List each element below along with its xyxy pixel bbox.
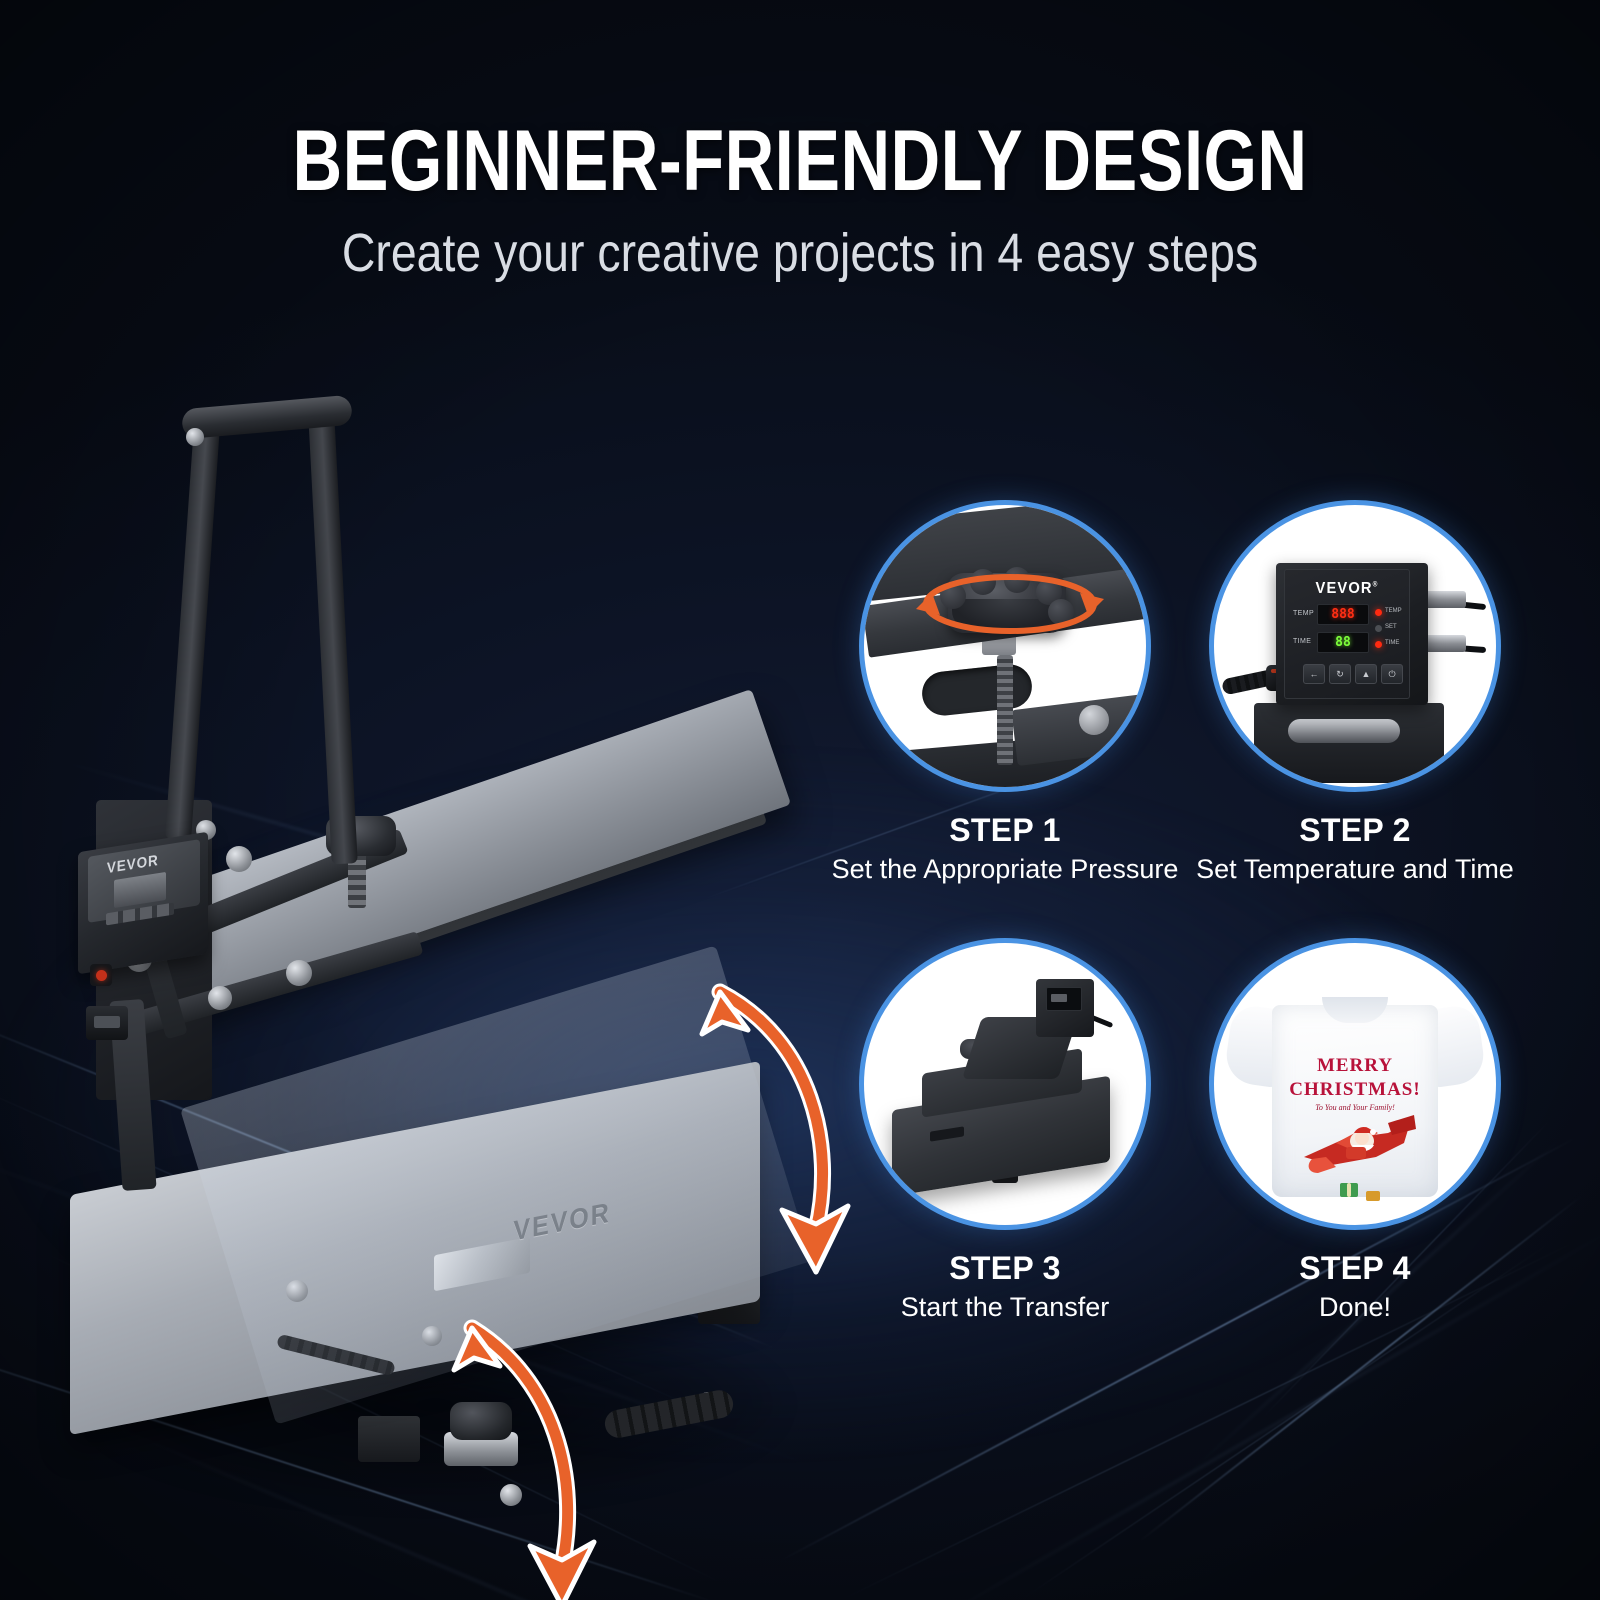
step-card-4[interactable]: MERRY CHRISTMAS! To You and Your Family! (1180, 938, 1530, 1324)
base-foot-front (358, 1416, 420, 1462)
panel-led-time-label: TIME (1385, 640, 1399, 646)
knob-photo-side-nut (1079, 705, 1109, 735)
panel-button-row[interactable]: ← ↻ ▲ ⏻ (1303, 664, 1403, 684)
steps-row-top: STEP 1 Set the Appropriate Pressure (830, 500, 1530, 886)
press-photo-display (1046, 987, 1082, 1011)
power-socket (86, 1006, 128, 1040)
step-3-caption: STEP 3 Start the Transfer (901, 1250, 1110, 1324)
tshirt-print-line-3: To You and Your Family! (1230, 1103, 1480, 1112)
gift-box-ribbon (1347, 1183, 1351, 1197)
printed-tshirt: MERRY CHRISTMAS! To You and Your Family! (1230, 971, 1480, 1197)
panel-temp-display: 888 (1317, 604, 1369, 625)
step-1-description: Set the Appropriate Pressure (832, 854, 1179, 886)
step-4-description: Done! (1299, 1292, 1411, 1324)
panel-brand-text: VEVOR (1316, 580, 1373, 597)
step-2-image-bubble: VEVOR® TEMP TIME 888 88 TEMP SET (1209, 500, 1501, 792)
tshirt-print-line-2: CHRISTMAS! (1230, 1079, 1480, 1101)
handle-pivot-bolt (186, 428, 204, 446)
step-card-3[interactable]: STEP 3 Start the Transfer (830, 938, 1180, 1324)
panel-temp-label: TEMP (1293, 610, 1314, 617)
panel-button-back[interactable]: ← (1303, 664, 1325, 684)
step-3-heading: STEP 3 (901, 1250, 1110, 1287)
knob-photo-threaded-rod (997, 655, 1013, 765)
panel-button-power[interactable]: ⏻ (1381, 664, 1403, 684)
step-card-1[interactable]: STEP 1 Set the Appropriate Pressure (830, 500, 1180, 886)
step-2-heading: STEP 2 (1196, 812, 1514, 849)
step-2-caption: STEP 2 Set Temperature and Time (1196, 812, 1514, 886)
step-4-heading: STEP 4 (1299, 1250, 1411, 1287)
close-motion-arrow-left (444, 1310, 634, 1600)
control-panel-face: VEVOR® TEMP TIME 888 88 TEMP SET (1284, 569, 1410, 699)
step-2-description: Set Temperature and Time (1196, 854, 1514, 886)
step-3-image-bubble (859, 938, 1151, 1230)
header: BEGINNER-FRIENDLY DESIGN Create your cre… (0, 118, 1600, 280)
gift-box-gold (1366, 1191, 1380, 1201)
step-1-caption: STEP 1 Set the Appropriate Pressure (832, 812, 1179, 886)
tshirt-print-line-1: MERRY (1230, 1055, 1480, 1077)
frame-bolt-4 (208, 986, 232, 1010)
step-4-image-bubble: MERRY CHRISTMAS! To You and Your Family! (1209, 938, 1501, 1230)
panel-time-value: 88 (1335, 636, 1351, 649)
panel-photo-base-frame (1254, 703, 1444, 783)
handle-arm-left[interactable] (165, 410, 221, 841)
panel-time-display: 88 (1317, 632, 1369, 653)
panel-button-cycle[interactable]: ↻ (1329, 664, 1351, 684)
step-card-2[interactable]: VEVOR® TEMP TIME 888 88 TEMP SET (1180, 500, 1530, 886)
panel-led-temp (1375, 609, 1382, 616)
panel-brand-logo: VEVOR® (1290, 580, 1404, 598)
step-1-image-bubble (859, 500, 1151, 792)
panel-temp-value: 888 (1331, 608, 1354, 621)
panel-time-label: TIME (1293, 638, 1311, 645)
frame-bolt-3 (286, 960, 312, 986)
santa-plane-icon (1292, 1113, 1422, 1179)
page-subtitle: Create your creative projects in 4 easy … (112, 226, 1488, 280)
infographic-canvas: BEGINNER-FRIENDLY DESIGN Create your cre… (0, 0, 1600, 1600)
panel-led-set (1375, 625, 1382, 632)
frame-bolt-1 (226, 846, 252, 872)
handle-arm-right[interactable] (308, 414, 358, 865)
panel-led-temp-label: TEMP (1385, 608, 1402, 614)
rotation-arrow-icon (910, 563, 1110, 645)
panel-led-time (1375, 641, 1382, 648)
panel-led-set-label: SET (1385, 624, 1397, 630)
page-title: BEGINNER-FRIENDLY DESIGN (160, 118, 1440, 204)
step-3-description: Start the Transfer (901, 1292, 1110, 1324)
steps-grid: STEP 1 Set the Appropriate Pressure (830, 500, 1530, 1324)
panel-photo-roller (1288, 719, 1400, 743)
panel-button-up[interactable]: ▲ (1355, 664, 1377, 684)
product-photo-heat-press: VEVOR (30, 380, 820, 1500)
power-switch[interactable] (90, 964, 112, 986)
steps-row-bottom: STEP 3 Start the Transfer MERRY CHRISTMA… (830, 938, 1530, 1324)
steps-row-gap (830, 886, 1530, 938)
step-1-heading: STEP 1 (832, 812, 1179, 849)
step-4-caption: STEP 4 Done! (1299, 1250, 1411, 1324)
